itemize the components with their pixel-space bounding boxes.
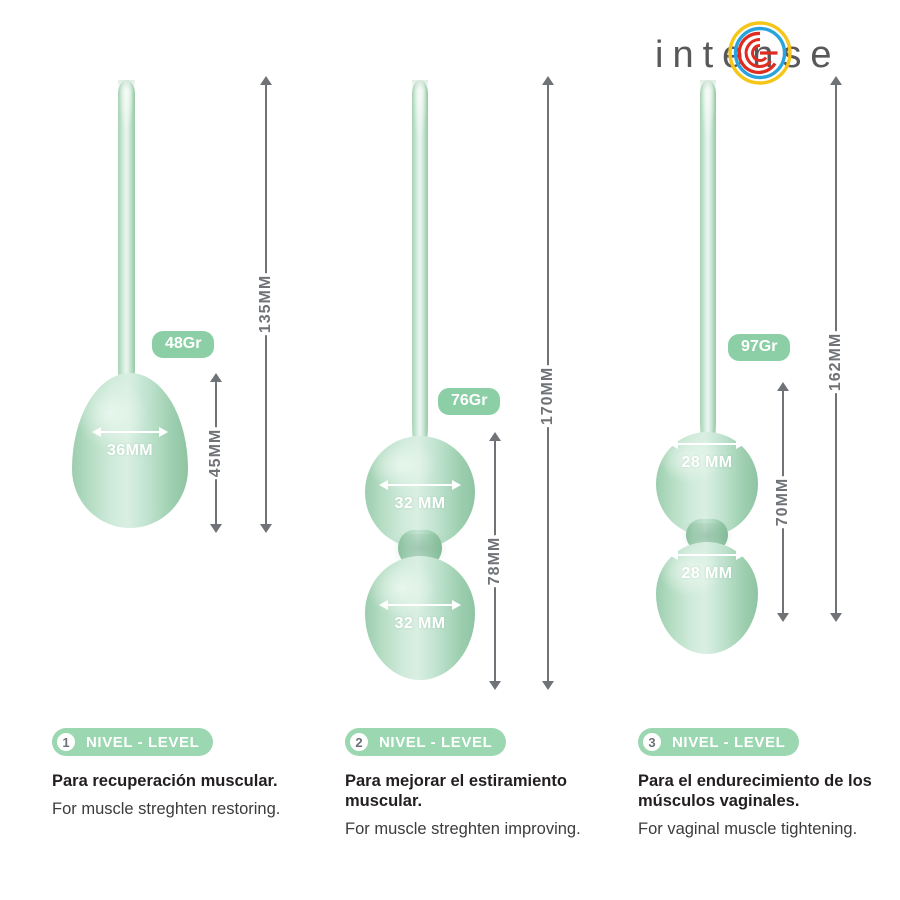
weight-badge: 76Gr: [438, 388, 500, 415]
device-stem: [118, 80, 135, 385]
width-measure-lower-2: 32 MM: [367, 598, 473, 633]
width-measure-upper-3: 28 MM: [658, 437, 756, 472]
dimension-bulb-height-1: 45MM: [203, 373, 229, 533]
product-column-level-3: 28 MM 28 MM 97Gr 70MM 162MM: [590, 0, 890, 716]
device-stem: [412, 80, 428, 443]
width-label: 28 MM: [658, 565, 756, 583]
level-number: 3: [641, 731, 663, 753]
level-badge-3: 3 NIVEL - LEVEL: [638, 728, 799, 756]
width-label: 36MM: [80, 442, 180, 460]
description-es: Para mejorar el estiramiento muscular.: [345, 771, 615, 811]
level-number: 1: [55, 731, 77, 753]
caption-level-2: 2 NIVEL - LEVEL Para mejorar el estirami…: [345, 728, 615, 839]
weight-badge: 48Gr: [152, 331, 214, 358]
caption-level-3: 3 NIVEL - LEVEL Para el endurecimiento d…: [638, 728, 900, 839]
width-label: 32 MM: [367, 495, 473, 513]
dimension-total-length-2: 170MM: [535, 76, 561, 690]
dimension-label: 70MM: [770, 476, 796, 528]
level-badge-2: 2 NIVEL - LEVEL: [345, 728, 506, 756]
product-column-level-1: 36MM 48Gr 45MM 135MM: [0, 0, 300, 716]
level-label: NIVEL - LEVEL: [379, 734, 492, 751]
dimension-total-length-1: 135MM: [253, 76, 279, 533]
description-en: For muscle streghten improving.: [345, 819, 615, 839]
weight-badge: 97Gr: [728, 334, 790, 361]
width-label: 28 MM: [658, 454, 756, 472]
product-size-chart: intense 36MM: [0, 0, 900, 900]
width-label: 32 MM: [367, 615, 473, 633]
level-badge-1: 1 NIVEL - LEVEL: [52, 728, 213, 756]
dimension-total-length-3: 162MM: [823, 76, 849, 622]
dimension-bulb-height-3: 70MM: [770, 382, 796, 622]
width-measure-1: 36MM: [80, 425, 180, 460]
dimension-label: 170MM: [535, 365, 561, 427]
level-number: 2: [348, 731, 370, 753]
level-label: NIVEL - LEVEL: [86, 734, 199, 751]
dimension-bulb-height-2: 78MM: [482, 432, 508, 690]
dimension-label: 135MM: [253, 273, 279, 335]
width-measure-lower-3: 28 MM: [658, 548, 756, 583]
product-column-level-2: 32 MM 32 MM 76Gr 78MM 170MM: [295, 0, 595, 716]
caption-level-1: 1 NIVEL - LEVEL Para recuperación muscul…: [52, 728, 322, 819]
description-en: For muscle streghten restoring.: [52, 799, 322, 819]
width-measure-upper-2: 32 MM: [367, 478, 473, 513]
level-label: NIVEL - LEVEL: [672, 734, 785, 751]
dimension-label: 45MM: [203, 427, 229, 479]
description-en: For vaginal muscle tightening.: [638, 819, 900, 839]
dimension-label: 162MM: [823, 331, 849, 393]
dimension-label: 78MM: [482, 535, 508, 587]
device-stem: [700, 80, 716, 440]
description-es: Para recuperación muscular.: [52, 771, 322, 791]
description-es: Para el endurecimiento de los músculos v…: [638, 771, 900, 811]
